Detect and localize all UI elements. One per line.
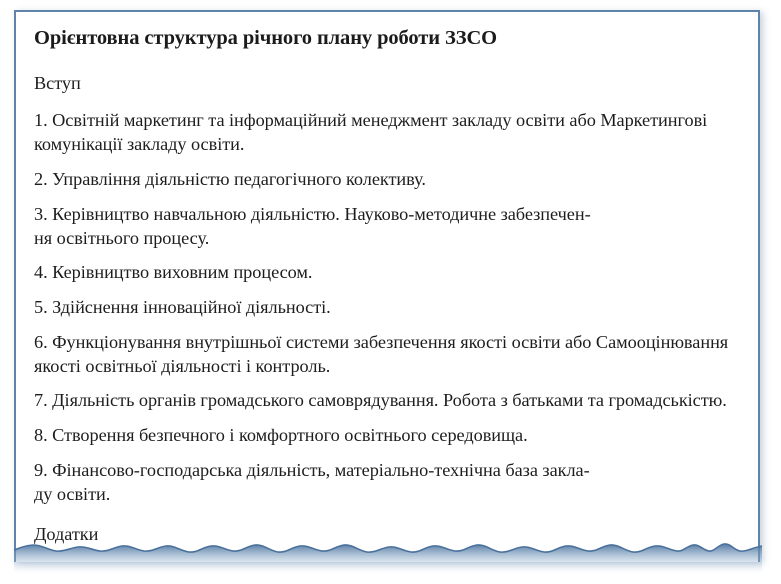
border-edge-left-tail [14,536,16,550]
border-edge-right-tail [758,536,760,550]
list-item: 6. Функціонування внутрішньої системи за… [34,331,742,379]
list-item: 8. Створення безпечного і комфортного ос… [34,424,742,448]
document-page: Орієнтовна структура річного плану робот… [0,0,781,584]
list-item: 9. Фінансово-господарська діяльність, ма… [34,459,742,507]
list-item: 5. Здійснення інноваційної діяльності. [34,296,742,320]
section-appendix: Додатки [34,523,742,547]
list-item: 1. Освітній маркетинг та інформаційний м… [34,109,742,157]
list-item: 3. Керівництво навчальною діяльністю. На… [34,203,742,251]
content-card: Орієнтовна структура річного плану робот… [14,10,760,562]
list-item: 2. Управління діяльністю педагогічного к… [34,168,742,192]
list-item: 4. Керівництво виховним процесом. [34,261,742,285]
list-item: 7. Діяльність органів громадського самов… [34,389,742,413]
section-intro: Вступ [34,72,742,96]
content-card-inner: Орієнтовна структура річного плану робот… [16,12,758,562]
page-title: Орієнтовна структура річного плану робот… [34,26,742,52]
